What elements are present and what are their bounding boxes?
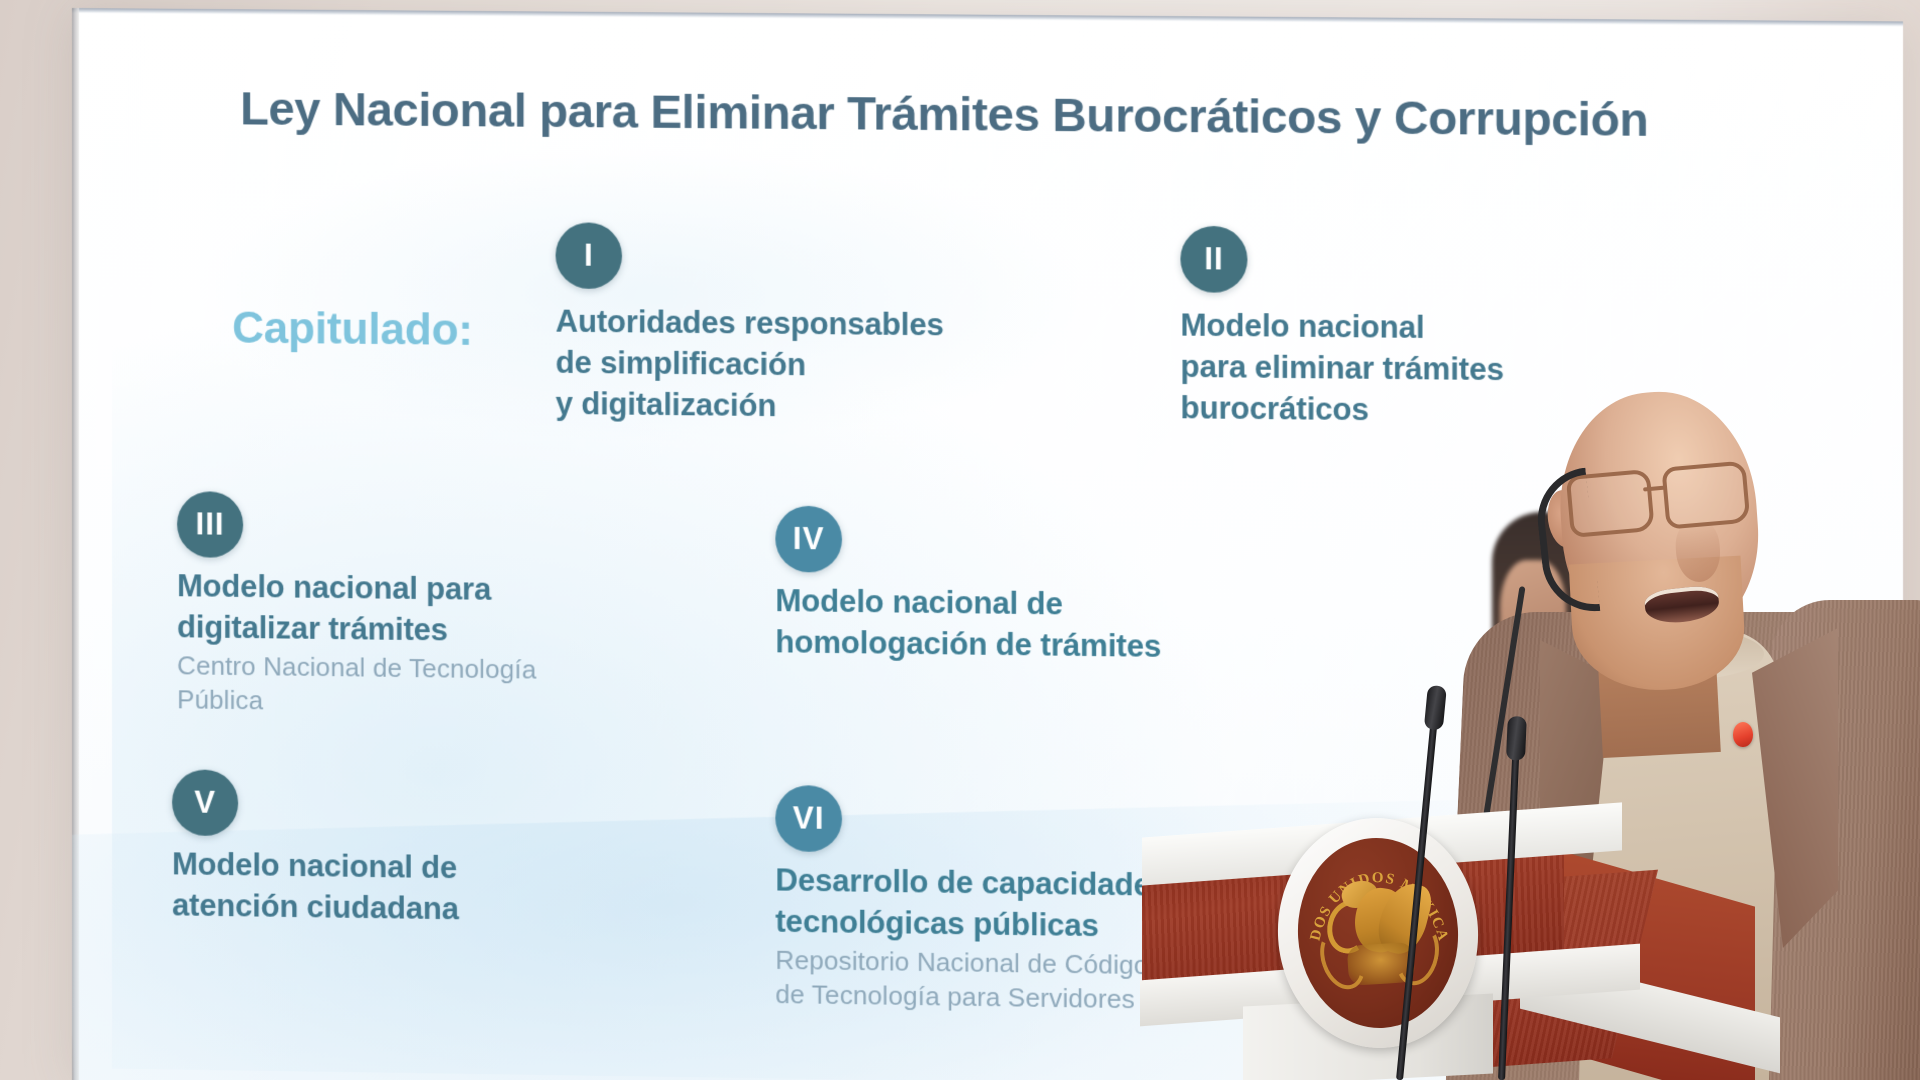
chapter-title-line: tecnológicas públicas <box>775 901 1343 950</box>
chapter-title-line: atención ciudadana <box>172 885 644 933</box>
chapter-title-line: Modelo nacional para <box>177 565 679 612</box>
chapter-title-line: Modelo nacional de <box>775 580 1343 628</box>
chapter-item-i: I Autoridades responsables de simplifica… <box>556 222 1122 430</box>
chapter-numeral-badge-i: I <box>556 222 622 289</box>
chapter-item-ii: II Modelo nacional para eliminar trámite… <box>1180 226 1720 435</box>
slide-title: Ley Nacional para Eliminar Trámites Buro… <box>240 81 1903 149</box>
chapter-subtitle-line: de Tecnología para Servidores Públicos <box>775 978 1343 1020</box>
chapter-title-line: burocráticos <box>1180 387 1720 434</box>
chapter-numeral-badge-v: V <box>172 769 238 836</box>
chapter-title-line: Modelo nacional de <box>172 843 644 891</box>
section-label-capitulado: Capitulado: <box>232 304 473 356</box>
chapter-title-vi: Desarrollo de capacidades tecnológicas p… <box>775 859 1343 950</box>
chapter-numeral-badge-iv: IV <box>775 506 842 573</box>
chapter-subtitle-iii: Centro Nacional de Tecnología Pública <box>177 650 679 724</box>
chapter-title-v: Modelo nacional de atención ciudadana <box>172 843 644 932</box>
chapter-subtitle-vi: Repositorio Nacional de Código de Tecnol… <box>775 944 1343 1020</box>
chapter-numeral-badge-iii: III <box>177 491 243 558</box>
chapter-item-v: V Modelo nacional de atención ciudadana <box>172 769 644 932</box>
chapter-numeral-badge-ii: II <box>1180 226 1247 293</box>
screenshot-stage: Ley Nacional para Eliminar Trámites Buro… <box>0 0 1920 1080</box>
chapter-title-ii: Modelo nacional para eliminar trámites b… <box>1180 304 1720 434</box>
chapter-title-line: Autoridades responsables <box>556 301 1122 348</box>
chapter-title-line: para eliminar trámites <box>1180 346 1720 393</box>
chapter-subtitle-line: Pública <box>177 684 679 724</box>
slide-left-edge <box>72 8 79 1080</box>
chapter-title-line: digitalizar trámites <box>177 606 679 653</box>
chapter-title-line: de simplificación <box>556 342 1122 389</box>
chapter-title-line: Modelo nacional <box>1180 304 1720 351</box>
chapter-title-line: homologación de trámites <box>775 621 1343 669</box>
chapter-item-iii: III Modelo nacional para digitalizar trá… <box>177 491 679 723</box>
chapter-item-vi: VI Desarrollo de capacidades tecnológica… <box>775 785 1343 1020</box>
chapter-title-iii: Modelo nacional para digitalizar trámite… <box>177 565 679 653</box>
presentation-slide: Ley Nacional para Eliminar Trámites Buro… <box>72 8 1903 1080</box>
chapter-item-iv: IV Modelo nacional de homologación de tr… <box>775 506 1343 670</box>
chapter-title-i: Autoridades responsables de simplificaci… <box>556 301 1122 431</box>
chapter-numeral-badge-vi: VI <box>775 785 842 852</box>
chapter-title-line: y digitalización <box>556 383 1122 430</box>
chapter-title-iv: Modelo nacional de homologación de trámi… <box>775 580 1343 670</box>
